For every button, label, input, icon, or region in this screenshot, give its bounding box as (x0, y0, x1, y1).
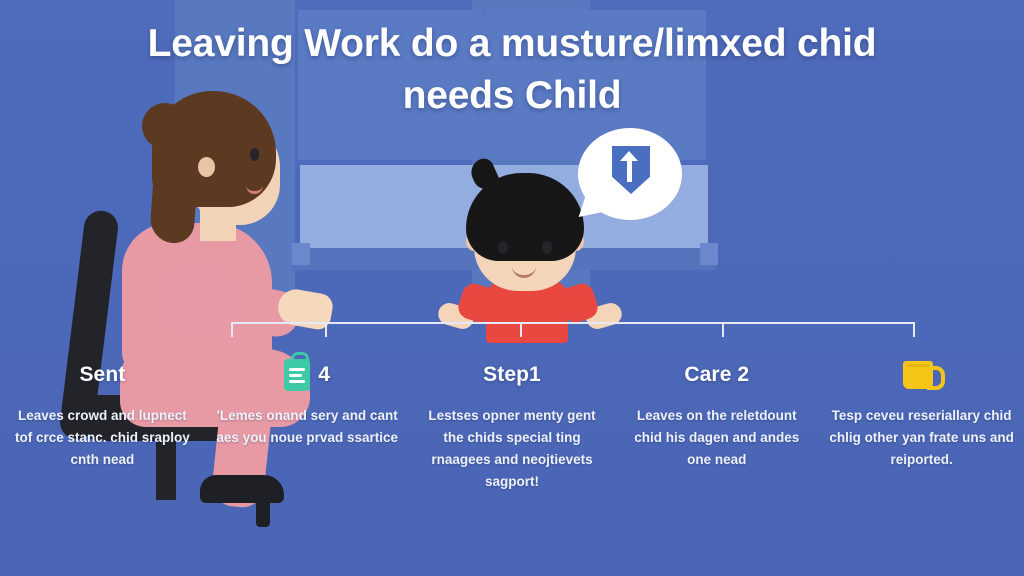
step-2-body: 'Lemes onand sery and cant aes you noue … (215, 405, 400, 449)
step-5-header (829, 355, 1014, 395)
shopping-bag-icon (284, 359, 310, 391)
step-1-body: Leaves crowd and lupnect tof crce stanc.… (10, 405, 195, 471)
step-4-body: Leaves on the reletdount chid his dagen … (624, 405, 809, 471)
step-item-5[interactable]: Tesp ceveu reseriallary chid chlig other… (819, 355, 1024, 492)
woman-sleeve (166, 263, 238, 337)
step-4-header: Care 2 (624, 355, 809, 395)
child-eye-left (498, 241, 508, 254)
step-5-body: Tesp ceveu reseriallary chid chlig other… (829, 405, 1014, 471)
step-3-header: Step1 (420, 355, 605, 395)
step-4-title: Care 2 (684, 363, 749, 387)
step-2-header: 4 (215, 355, 400, 395)
timeline-tick-2 (325, 322, 327, 337)
title-line-1: Leaving Work do a musture/limxed chid (28, 18, 996, 70)
step-item-2[interactable]: 4 'Lemes onand sery and cant aes you nou… (205, 355, 410, 492)
bag-line-2 (289, 374, 302, 377)
step-3-title: Step1 (483, 363, 541, 387)
woman-shoe-heel (256, 493, 270, 527)
woman-eye (250, 148, 259, 161)
step-item-3[interactable]: Step1 Lestses opner menty gent the chids… (410, 355, 615, 492)
timeline-tick-3 (520, 322, 522, 337)
up-arrow-icon (627, 158, 632, 182)
woman-eyebrow (246, 139, 264, 142)
bag-line-1 (289, 368, 305, 371)
coffee-mug-icon (903, 361, 933, 389)
window-sill-cap-right (700, 243, 718, 265)
step-3-body: Lestses opner menty gent the chids speci… (420, 405, 605, 492)
steps-row: Sent Leaves crowd and lupnect tof crce s… (0, 355, 1024, 492)
timeline-tick-5 (913, 322, 915, 337)
child-hair-fringe (470, 199, 582, 233)
step-1-title: Sent (79, 363, 125, 387)
step-2-title: 4 (318, 363, 330, 387)
infographic-canvas: Leaving Work do a musture/limxed chid ne… (0, 0, 1024, 576)
step-item-1[interactable]: Sent Leaves crowd and lupnect tof crce s… (0, 355, 205, 492)
child-eye-right (542, 241, 552, 254)
woman-ear (198, 157, 215, 177)
bag-line-3 (289, 380, 305, 383)
timeline-tick-1 (231, 322, 233, 337)
step-1-header: Sent (10, 355, 195, 395)
step-item-4[interactable]: Care 2 Leaves on the reletdount chid his… (614, 355, 819, 492)
timeline-axis (231, 322, 915, 324)
timeline-tick-4 (722, 322, 724, 337)
